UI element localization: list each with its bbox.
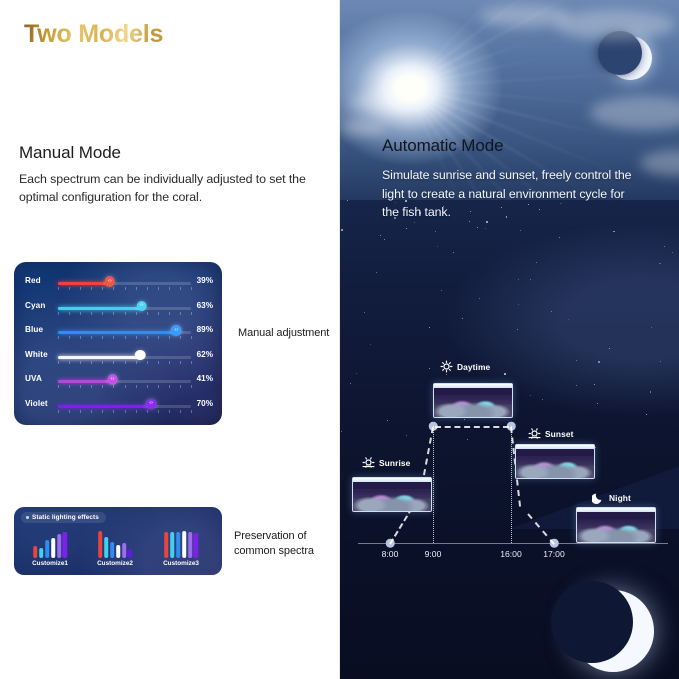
star	[414, 222, 415, 223]
bullet-dot-icon	[26, 516, 29, 519]
spectrum-slider-row[interactable]: UVA‹›41%	[14, 369, 222, 394]
preset-bar	[51, 538, 55, 558]
star	[568, 319, 569, 320]
star	[347, 200, 348, 201]
preset-bar	[128, 549, 132, 558]
page-title: Two Models	[24, 20, 163, 49]
star	[376, 272, 377, 273]
timeline-stage-name: Night	[609, 493, 631, 503]
cloud	[350, 92, 408, 114]
star	[613, 231, 615, 233]
preset-bar	[176, 532, 180, 558]
lighting-preset[interactable]: Customize1	[19, 529, 81, 571]
spectrum-slider-thumb[interactable]: ‹›	[135, 350, 146, 361]
star	[518, 304, 519, 305]
cloud	[480, 5, 570, 27]
timeline-tick-label: 16:00	[494, 549, 528, 559]
preset-bar	[110, 542, 114, 558]
timeline-tick-label: 8:00	[373, 549, 407, 559]
star	[517, 329, 518, 330]
spectrum-slider-fill	[58, 307, 142, 310]
star	[441, 290, 442, 291]
preset-bar	[170, 532, 174, 558]
aquarium-light-bar	[577, 508, 655, 512]
aquarium-daytime-image	[433, 383, 513, 418]
automatic-mode-heading: Automatic Mode	[382, 136, 503, 156]
star	[479, 298, 480, 299]
cloud	[590, 96, 679, 130]
preset-bar	[194, 533, 198, 558]
spectrum-slider-card: Violet‹›70%UVA‹›41%White‹›62%Blue‹›89%Cy…	[14, 262, 222, 425]
coral-reef	[353, 491, 431, 511]
spectrum-slider-row[interactable]: Red‹›39%	[14, 271, 222, 296]
manual-mode-heading: Manual Mode	[19, 143, 121, 163]
static-lighting-effects-label: Static lighting effects	[32, 514, 99, 521]
star	[485, 228, 486, 229]
spectrum-slider-track[interactable]	[58, 380, 191, 383]
timeline-fall-dash	[527, 513, 555, 544]
spectrum-slider-thumb[interactable]: ‹›	[171, 325, 182, 336]
sunset-icon	[528, 427, 541, 440]
manual-adjustment-note: Manual adjustment	[238, 326, 334, 341]
day-cycle-timeline: 8:009:0016:0017:00SunriseDaytimeSunsetNi…	[340, 355, 679, 570]
automatic-mode-panel: Automatic Mode Simulate sunrise and suns…	[340, 0, 679, 679]
preset-bar	[98, 531, 102, 558]
timeline-stage-label: Sunset	[528, 427, 574, 440]
spectrum-slider-ticks	[58, 312, 191, 316]
timeline-dotted-riser	[433, 426, 434, 543]
preset-bar	[57, 534, 61, 558]
manual-mode-panel: Two Models Manual Mode Each spectrum can…	[0, 0, 340, 679]
star	[551, 311, 552, 312]
spectrum-slider-ticks	[58, 361, 191, 365]
aquarium-light-bar	[434, 384, 512, 388]
star	[437, 246, 438, 247]
coral-reef	[434, 397, 512, 417]
spectrum-slider-row[interactable]: White‹›62%	[14, 345, 222, 370]
spectrum-slider-row[interactable]: Blue‹›89%	[14, 320, 222, 345]
spectrum-slider-row[interactable]: Violet‹›70%	[14, 394, 222, 419]
spectrum-slider-track[interactable]	[58, 405, 191, 408]
spectrum-slider-ticks	[58, 287, 191, 291]
timeline-tick-label: 9:00	[416, 549, 450, 559]
preset-bar	[33, 546, 37, 558]
spectrum-slider-value: 62%	[187, 350, 213, 359]
spectrum-slider-value: 41%	[187, 374, 213, 383]
star	[406, 228, 407, 229]
preset-spectrum-bars	[164, 529, 198, 558]
preset-bar	[116, 545, 120, 558]
spectrum-slider-row[interactable]: Cyan‹›63%	[14, 296, 222, 321]
spectrum-slider-value: 89%	[187, 325, 213, 334]
timeline-tick-label: 17:00	[537, 549, 571, 559]
preset-bar	[39, 548, 43, 558]
spectrum-slider-ticks	[58, 385, 191, 389]
timeline-stage-name: Sunset	[545, 429, 574, 439]
spectrum-slider-value: 39%	[187, 276, 213, 285]
aquarium-light-bar	[353, 478, 431, 482]
star	[453, 252, 454, 253]
spectrum-slider-thumb[interactable]: ‹›	[107, 374, 118, 385]
star	[520, 230, 521, 231]
spectrum-slider-thumb[interactable]: ‹›	[136, 301, 147, 312]
star	[435, 231, 436, 232]
cloud	[640, 150, 679, 176]
aquarium-night-image	[576, 507, 656, 543]
preset-bar	[63, 532, 67, 558]
spectrum-slider-track[interactable]	[58, 282, 191, 285]
preservation-note: Preservation of common spectra	[234, 529, 338, 558]
static-lighting-effects-card: Static lighting effects Customize1Custom…	[14, 507, 222, 575]
spectrum-slider-value: 63%	[187, 301, 213, 310]
star	[380, 235, 381, 236]
timeline-stage-name: Sunrise	[379, 458, 410, 468]
preset-bar	[188, 532, 192, 558]
spectrum-slider-ticks	[58, 336, 191, 340]
spectrum-slider-thumb[interactable]: ‹›	[105, 276, 116, 287]
spectrum-slider-fill	[58, 405, 151, 408]
star	[651, 327, 652, 328]
lighting-preset[interactable]: Customize2	[84, 529, 146, 571]
preset-spectrum-bars	[98, 529, 132, 558]
star	[609, 348, 610, 349]
timeline-rise-dash	[389, 507, 413, 544]
preset-bar	[164, 532, 168, 558]
spectrum-slider-fill	[58, 282, 110, 285]
lighting-preset[interactable]: Customize3	[150, 529, 212, 571]
sun-icon	[440, 360, 453, 373]
star	[462, 318, 463, 319]
timeline-stage-label: Sunrise	[362, 456, 410, 469]
timeline-axis	[358, 543, 668, 544]
star	[477, 227, 478, 228]
coral-reef	[577, 521, 655, 542]
preset-spectrum-bars	[33, 529, 67, 558]
preset-bar	[45, 540, 49, 558]
preset-name: Customize1	[19, 560, 81, 567]
manual-mode-description: Each spectrum can be individually adjust…	[19, 170, 315, 206]
star	[341, 229, 343, 231]
automatic-mode-description: Simulate sunrise and sunset, freely cont…	[382, 166, 644, 222]
star	[659, 263, 661, 265]
star	[518, 279, 519, 280]
spectrum-slider-fill	[58, 380, 113, 383]
preset-name: Customize2	[84, 560, 146, 567]
star	[364, 312, 365, 313]
star	[429, 327, 430, 328]
coral-reef	[516, 458, 594, 478]
star	[536, 262, 537, 263]
preset-bar	[122, 543, 126, 558]
star	[559, 237, 560, 238]
aquarium-sunrise-image	[352, 477, 432, 512]
moon-icon	[592, 491, 605, 504]
cloud	[340, 120, 386, 136]
timeline-stage-label: Daytime	[440, 360, 490, 373]
timeline-plateau-dash	[435, 426, 509, 428]
spectrum-slider-track[interactable]	[58, 307, 191, 310]
preset-bar	[182, 531, 186, 558]
spectrum-slider-ticks	[58, 410, 191, 414]
star	[672, 252, 673, 253]
sunrise-icon	[362, 456, 375, 469]
aquarium-light-bar	[516, 445, 594, 449]
preset-name: Customize3	[150, 560, 212, 567]
spectrum-slider-thumb[interactable]: ‹›	[146, 399, 157, 410]
star	[370, 344, 371, 345]
star	[384, 239, 385, 240]
timeline-stage-label: Night	[592, 491, 631, 504]
two-models-page: Two Models Manual Mode Each spectrum can…	[0, 0, 679, 679]
spectrum-slider-fill	[58, 331, 176, 334]
aquarium-sunset-image	[515, 444, 595, 479]
cloud	[555, 10, 675, 40]
static-lighting-effects-header: Static lighting effects	[21, 512, 106, 523]
spectrum-slider-value: 70%	[187, 399, 213, 408]
spectrum-slider-track[interactable]	[58, 356, 191, 359]
timeline-stage-name: Daytime	[457, 362, 490, 372]
preset-bar	[104, 537, 108, 558]
spectrum-slider-fill	[58, 356, 140, 359]
star	[664, 246, 666, 248]
star	[530, 279, 531, 280]
crescent-moon-large-icon	[572, 590, 654, 672]
